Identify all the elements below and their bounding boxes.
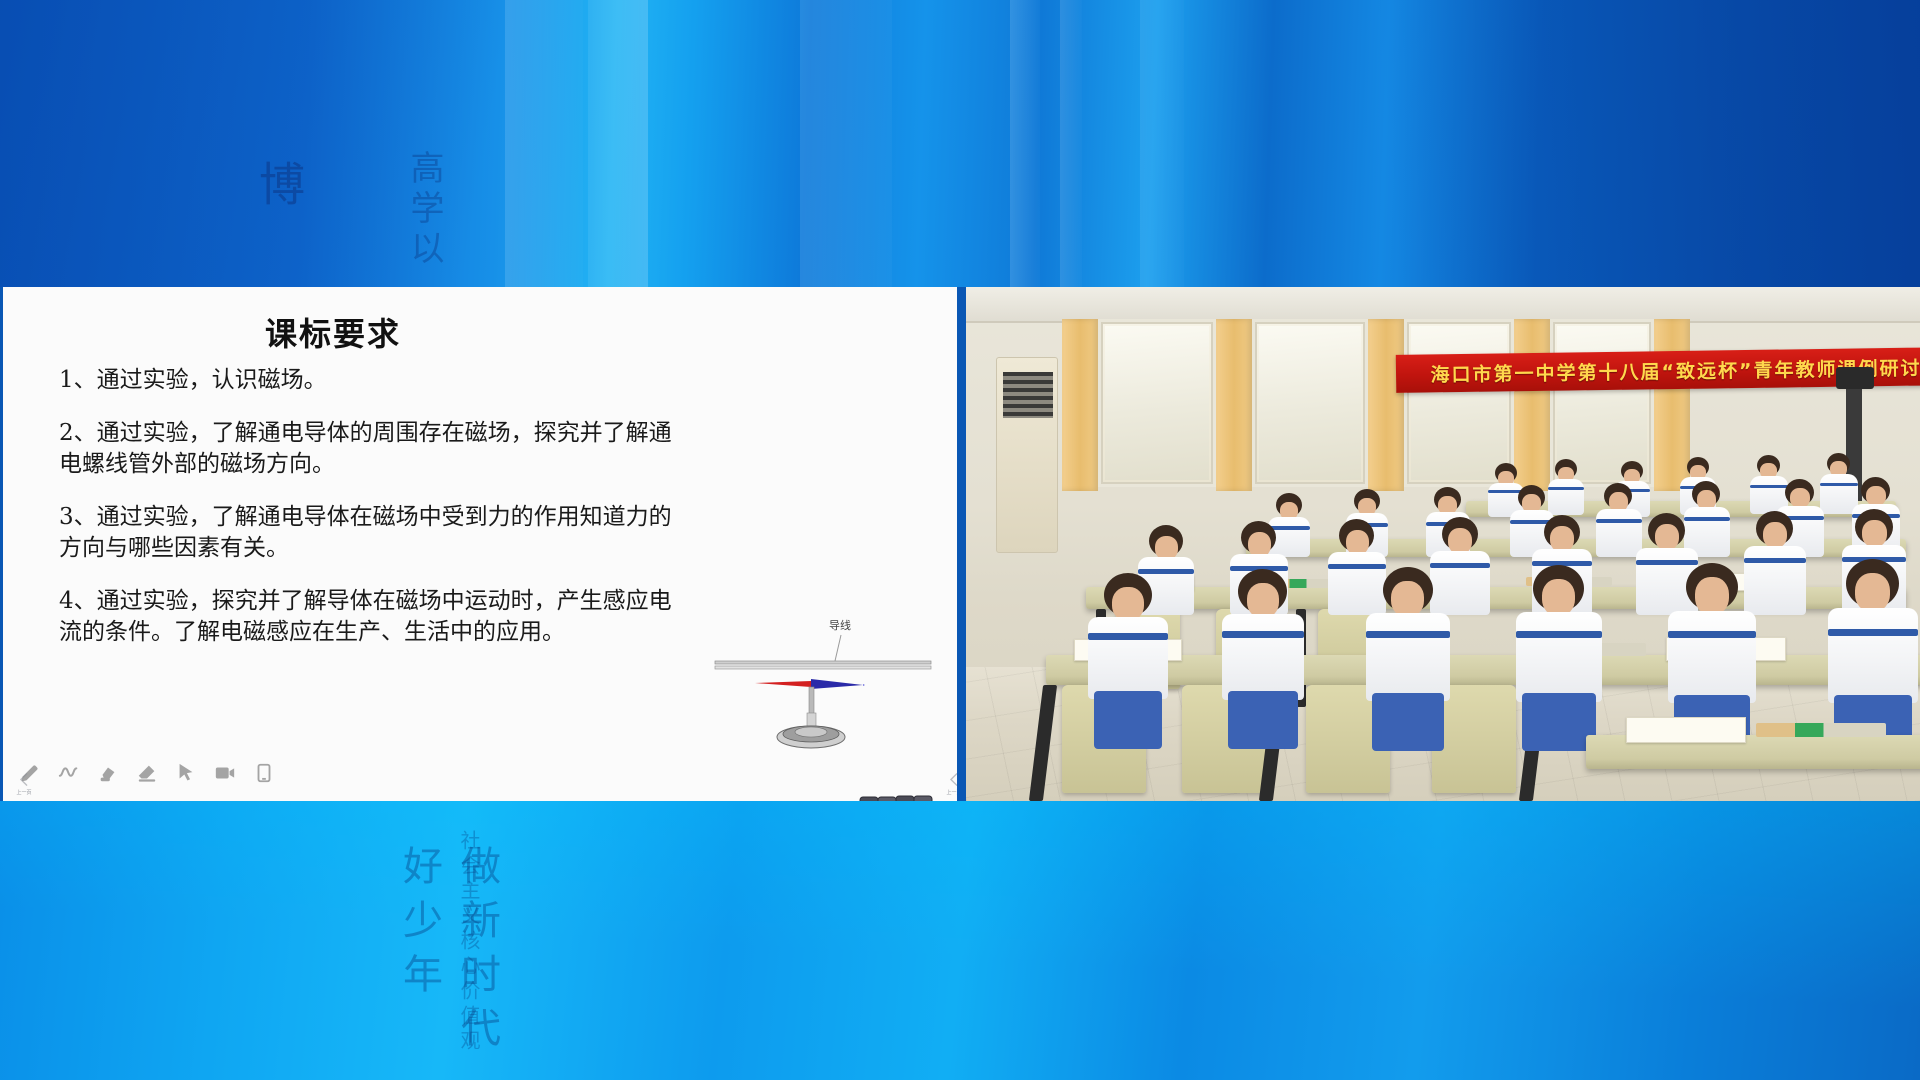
slide-bullet-4: 4、通过实验，探究并了解导体在磁场中运动时，产生感应电流的条件。了解电磁感应在生… [59,586,689,648]
background-calligraphy-bottom-side: 社会主义核心价值观 [455,830,484,1055]
student [1364,567,1452,705]
classroom-video-feed[interactable]: 海口市第一中学第十八届“致远杯”青年教师课例研讨 [966,287,1920,801]
student [1514,565,1604,705]
prev-page-icon[interactable]: 上一页 [7,771,41,796]
air-conditioner [996,357,1058,553]
side-toolbar-left[interactable]: 上一页 下一页 画笔 橡皮 工具 批注 [7,771,41,801]
highlighter-icon[interactable] [97,762,119,784]
eraser-icon[interactable] [136,762,158,784]
classroom-window [1404,319,1514,487]
experiment-kit [1756,723,1886,737]
prev-page-icon[interactable]: 上一页 [937,771,957,796]
student [1220,569,1306,703]
curtain [1062,319,1098,491]
curtain [1368,319,1404,491]
slide-bullet-2: 2、通过实验，了解通电导体的周围存在磁场，探究并了解通电螺线管外部的磁场方向。 [59,418,689,480]
prev-page-label: 上一页 [16,789,31,796]
oersted-diagram-icon [703,617,943,752]
student [1086,573,1170,703]
classroom-window [1252,319,1368,487]
cursor-icon[interactable] [175,762,197,784]
tablet-icon[interactable] [253,762,275,784]
slide-bullet-3: 3、通过实验，了解通电导体在磁场中受到力的作用知道力的方向与哪些因素有关。 [59,502,689,564]
student [1666,563,1758,705]
figure-wire-label: 导线 [829,617,851,633]
player-stage: 课标要求 1、通过实验，认识磁场。 2、通过实验，了解通电导体的周围存在磁场，探… [0,287,1920,801]
background-calligraphy-top-2: 高学以 [400,150,449,270]
slide-panel[interactable]: 课标要求 1、通过实验，认识磁场。 2、通过实验，了解通电导体的周围存在磁场，探… [3,287,957,801]
classroom-window [1098,319,1216,487]
textbook [1626,717,1746,743]
background-calligraphy-top-1: 博 [246,160,312,212]
slide-bullet-list: 1、通过实验，认识磁场。 2、通过实验，了解通电导体的周围存在磁场，探究并了解通… [59,365,689,670]
slide-bullet-1: 1、通过实验，认识磁场。 [59,365,689,396]
prev-page-label: 上一页 [946,789,957,796]
student [1826,559,1920,705]
video-camera-icon[interactable] [214,762,236,784]
background-bottom-art [0,800,1920,1080]
side-toolbar-right[interactable]: 上一页 下一页 画笔 橡皮 工具 批注 [937,771,957,801]
figure-oersted-experiment: 导线 [703,617,943,752]
annotation-toolbar[interactable] [11,753,261,793]
background-calligraphy-bottom-main: 做新时代好少年 [390,845,506,1080]
curve-icon[interactable] [58,762,80,784]
curtain [1216,319,1252,491]
background-top-banner-art: 博 高学以 [0,0,1920,292]
slide-title: 课标要求 [3,309,663,355]
